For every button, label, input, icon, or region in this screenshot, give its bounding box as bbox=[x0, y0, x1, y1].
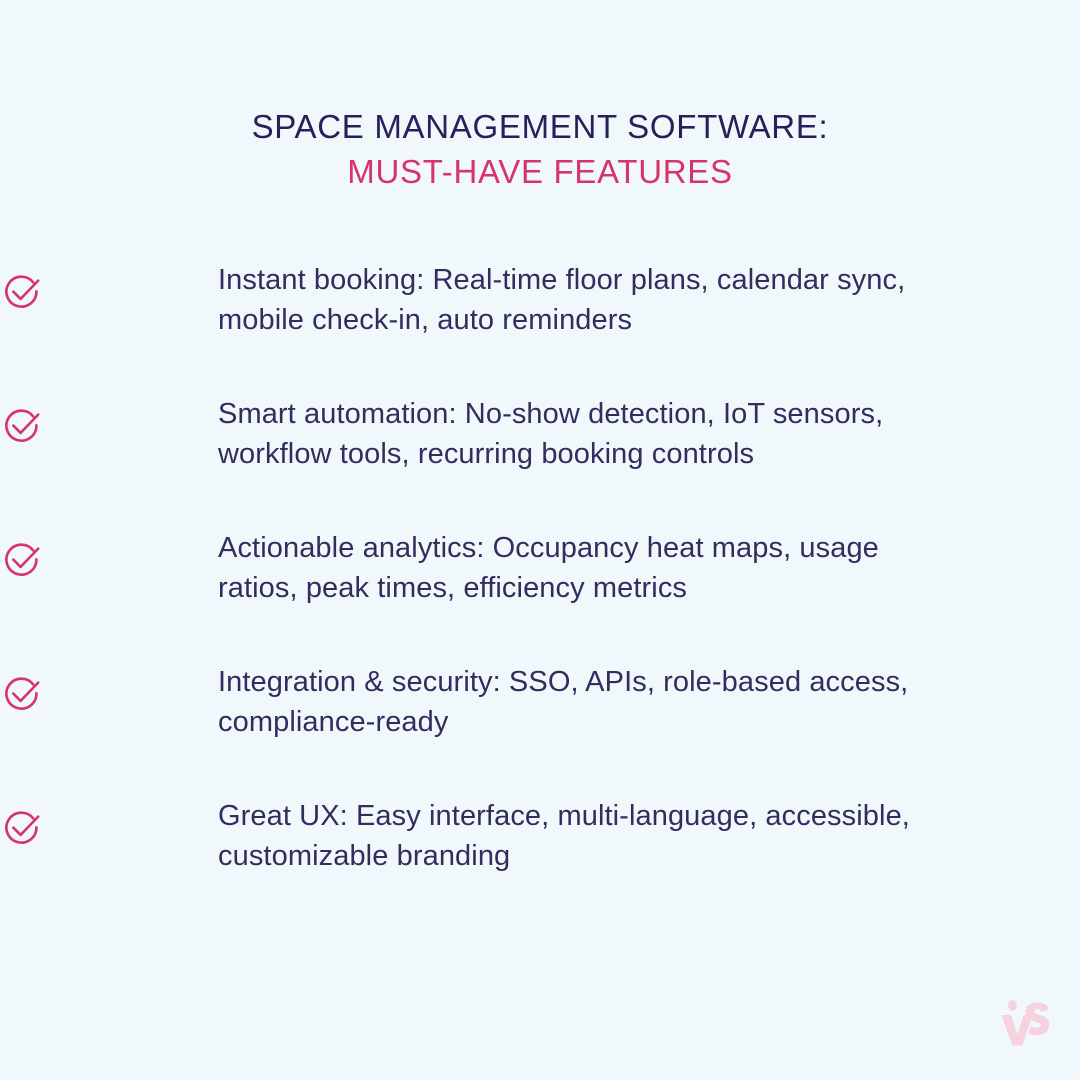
list-item: Smart automation: No-show detection, IoT… bbox=[0, 386, 1080, 520]
list-item-label: Actionable analytics: Occupancy heat map… bbox=[218, 520, 958, 608]
list-item-label: Great UX: Easy interface, multi-language… bbox=[218, 788, 958, 876]
feature-list: Instant booking: Real-time floor plans, … bbox=[0, 252, 1080, 922]
check-circle-icon bbox=[0, 538, 44, 582]
vs-logo-watermark bbox=[996, 996, 1054, 1054]
list-item: Great UX: Easy interface, multi-language… bbox=[0, 788, 1080, 922]
list-item-label: Integration & security: SSO, APIs, role-… bbox=[218, 654, 958, 742]
list-item-label: Instant booking: Real-time floor plans, … bbox=[218, 252, 958, 340]
check-circle-icon bbox=[0, 270, 44, 314]
check-circle-icon bbox=[0, 672, 44, 716]
list-item: Actionable analytics: Occupancy heat map… bbox=[0, 520, 1080, 654]
page-title-line-1: SPACE MANAGEMENT SOFTWARE: bbox=[0, 104, 1080, 149]
list-item: Integration & security: SSO, APIs, role-… bbox=[0, 654, 1080, 788]
check-circle-icon bbox=[0, 806, 44, 850]
page-title-line-2: MUST-HAVE FEATURES bbox=[0, 149, 1080, 194]
poster-canvas: SPACE MANAGEMENT SOFTWARE: MUST-HAVE FEA… bbox=[0, 0, 1080, 1080]
page-title: SPACE MANAGEMENT SOFTWARE: MUST-HAVE FEA… bbox=[0, 104, 1080, 194]
check-circle-icon bbox=[0, 404, 44, 448]
list-item-label: Smart automation: No-show detection, IoT… bbox=[218, 386, 958, 474]
list-item: Instant booking: Real-time floor plans, … bbox=[0, 252, 1080, 386]
